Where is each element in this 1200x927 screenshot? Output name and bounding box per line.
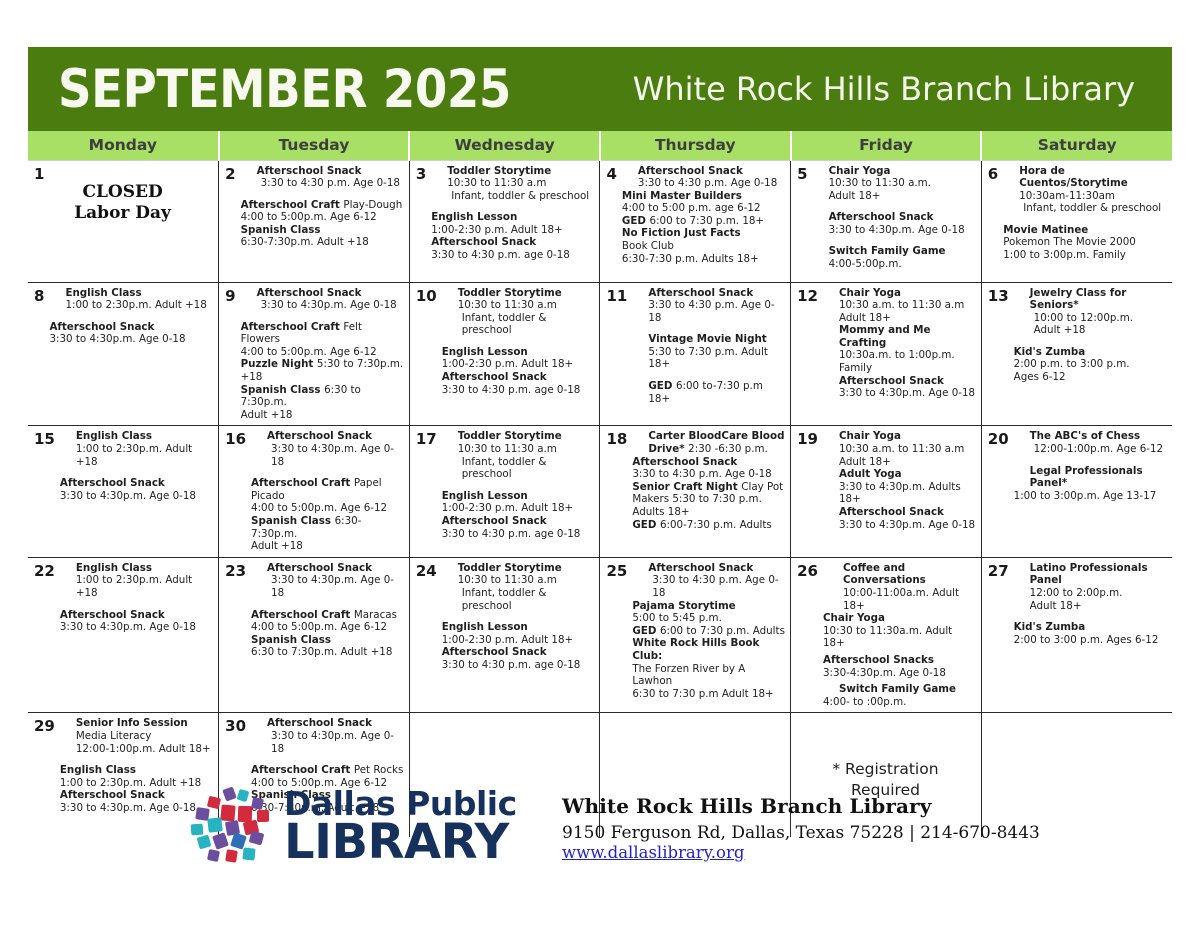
event-title: Coffee and Conversations (843, 562, 926, 587)
event-title: Jewelry Class for Seniors* (1030, 287, 1127, 312)
event-line: 10:30 to 11:30 a.m (442, 299, 595, 312)
event-line: 2:00 p.m. to 3:00 p.m. (1014, 358, 1167, 371)
day-cell-content: 10Toddler Storytime10:30 to 11:30 a.mInf… (414, 287, 595, 422)
event-title: Afterschool Snack (431, 236, 536, 248)
event-line: Adult 18+ (813, 190, 976, 203)
event-detail: 3:30 to 4:30 p.m. Age 0-18 (632, 468, 771, 480)
event-line: 6:30 to 7:30 p.m Adult 18+ (632, 688, 785, 701)
event-detail: Adult 18+ (839, 456, 891, 468)
event-line: 3:30 to 4:30p.m. Age 0-18 (823, 387, 976, 400)
day-number: 19 (797, 432, 818, 447)
event-title: Afterschool Snack (829, 211, 934, 223)
event-detail: 6:30 to 7:30p.m. Adult +18 (251, 646, 392, 658)
event-title: Afterschool Snack (638, 165, 743, 177)
event-title: Afterschool Snack (648, 562, 753, 574)
event-detail: 3:30 to 4:30p.m. Age 0-18 (60, 490, 196, 502)
event-title: Switch Family Game (829, 245, 946, 257)
calendar-day-cell-6: 6Hora de Cuentos/Storytime10:30am-11:30a… (981, 160, 1172, 282)
event-line: Chair Yoga (813, 165, 976, 178)
event-detail: 10:30 to 11:30a.m. Adult 18+ (823, 625, 952, 650)
event-detail: 3:30 to 4:30p.m. Age 0-18 (49, 333, 185, 345)
event-detail: 10:30a.m. to 1:00p.m. (839, 349, 955, 361)
event-line: Ages 6-12 (1014, 371, 1167, 384)
event-detail: Play-Dough (343, 199, 402, 211)
day-number: 5 (797, 167, 807, 182)
event-title: Afterschool Snack (442, 646, 547, 658)
day-cell-content: 1CLOSEDLabor Day (32, 165, 213, 278)
event-line: 10:30 to 11:30a.m. Adult 18+ (823, 625, 976, 650)
event-line: 4:00 to 5:00 p.m. age 6-12 (622, 202, 785, 215)
calendar-week-row: 1CLOSEDLabor Day2Afterschool Snack3:30 t… (28, 160, 1172, 282)
event-line: 10:30 a.m. to 11:30 a.m (823, 443, 976, 456)
event-title: Kid's Zumba (1014, 621, 1086, 633)
event-line: Hora de Cuentos/Storytime (1003, 165, 1167, 190)
event-title: English Class (76, 430, 152, 442)
event-detail: 1:00-2:30 p.m. Adult 18+ (442, 502, 573, 514)
day-cell-content: 26Coffee and Conversations10:00-11:00a.m… (795, 562, 976, 709)
event-line: Afterschool Snack (813, 211, 976, 224)
event-title: No Fiction Just Facts (622, 227, 741, 239)
event-detail: Infant, toddler & preschool (462, 587, 547, 612)
event-detail: Makers 5:30 to 7:30 p.m. (632, 493, 762, 505)
event-detail: 3:30 to 4:30p.m. Age 0-18 (271, 730, 394, 755)
event-line: Afterschool Snack (60, 609, 213, 622)
event-line: Adult +18 (241, 409, 404, 422)
event-detail: 4:00 to 5:00 p.m. age 6-12 (622, 202, 761, 214)
event-line: 4:00 to 5:00p.m. Age 6-12 (241, 211, 404, 224)
event-detail: 5:00 to 5:45 p.m. (632, 612, 722, 624)
logo-shape (207, 849, 220, 862)
calendar-day-cell-24: 24Toddler Storytime10:30 to 11:30 a.mInf… (409, 557, 600, 713)
event-detail: Adult +18 (1034, 324, 1086, 336)
event-detail: 2:00 to 3:00 p.m. Ages 6-12 (1014, 634, 1159, 646)
calendar-day-cell-23: 23Afterschool Snack3:30 to 4:30p.m. Age … (219, 557, 410, 713)
day-number: 17 (416, 432, 437, 447)
event-line: Family (823, 362, 976, 375)
day-number: 15 (34, 432, 55, 447)
event-line: Chair Yoga (823, 287, 976, 300)
event-detail: 4:00 to 5:00p.m. Age 6-12 (241, 346, 377, 358)
event-list: English Class1:00 to 2:30p.m. Adult +18A… (60, 430, 213, 502)
event-detail: 6:00 to 7:30 p.m. Adults (660, 625, 785, 637)
calendar-day-cell-17: 17Toddler Storytime10:30 to 11:30 a.mInf… (409, 426, 600, 557)
event-detail: 12:00 to 2:00p.m. (1030, 587, 1123, 599)
event-line: Spanish Class (251, 634, 404, 647)
day-number: 2 (225, 167, 235, 182)
event-title: Afterschool Snack (839, 375, 944, 387)
event-line: Afterschool Craft Maracas (251, 609, 404, 622)
event-line: Afterschool Snack (60, 477, 213, 490)
event-line: 6:30 to 7:30p.m. Adult +18 (251, 646, 404, 659)
event-line: 5:00 to 5:45 p.m. (632, 612, 785, 625)
event-list: Afterschool Snack3:30 to 4:30p.m. Age 0-… (251, 562, 404, 659)
event-title: The ABC's of Chess (1030, 430, 1140, 442)
event-title: English Class (65, 287, 141, 299)
event-line: 3:30 to 4:30p.m. Age 0-18 (251, 443, 404, 468)
calendar-day-cell-19: 19Chair Yoga10:30 a.m. to 11:30 a.mAdult… (791, 426, 982, 557)
event-line: Adult 18+ (823, 456, 976, 469)
event-title: Afterschool Snack (267, 430, 372, 442)
calendar-day-cell-4: 4Afterschool Snack3:30 to 4:30 p.m. Age … (600, 160, 791, 282)
event-line: Infant, toddler & preschool (442, 587, 595, 612)
event-list: Carter BloodCare BloodDrive* 2:30 -6:30 … (632, 430, 785, 531)
event-detail: 6:30-7:30 p.m. Adults 18+ (622, 253, 759, 265)
event-title: Switch Family Game (839, 683, 956, 695)
event-line: 5:30 to 7:30 p.m. Adult 18+ (632, 346, 785, 371)
day-cell-content: 22English Class1:00 to 2:30p.m. Adult +1… (32, 562, 213, 709)
event-detail: 1:00 to 2:30p.m. Adult +18 (65, 299, 206, 311)
event-title: Afterschool Snack (442, 515, 547, 527)
event-title: Chair Yoga (823, 612, 885, 624)
event-title: Chair Yoga (839, 430, 901, 442)
event-detail: Adults 18+ (632, 506, 689, 518)
event-detail: 3:30 to 4:30 p.m. age 0-18 (431, 249, 570, 261)
day-number: 22 (34, 564, 55, 579)
logo-shape (197, 835, 212, 850)
event-detail: 3:30 to 4:30p.m. Age 0-18 (271, 574, 394, 599)
event-line: GED 6:00 to 7:30 p.m. 18+ (622, 215, 785, 228)
event-title: Afterschool Craft (251, 609, 354, 621)
event-detail: 3:30 to 4:30p.m. Adults 18+ (839, 481, 961, 506)
day-number: 13 (988, 289, 1009, 304)
event-title: Afterschool Craft (251, 764, 354, 776)
event-title: Carter BloodCare Blood (648, 430, 784, 442)
event-line: Afterschool Snack (823, 375, 976, 388)
event-line: Chair Yoga (823, 430, 976, 443)
event-line: Adult +18 (251, 540, 404, 553)
event-line: Pajama Storytime (632, 600, 785, 613)
event-line: 1:00 to 3:00p.m. Age 13-17 (1014, 490, 1167, 503)
page-title: SEPTEMBER 2025 (58, 59, 511, 120)
event-line: Mini Master Builders (622, 190, 785, 203)
event-line: 3:30 to 4:30 p.m. age 0-18 (431, 249, 594, 262)
event-list: The ABC's of Chess12:00-1:00p.m. Age 6-1… (1014, 430, 1167, 502)
event-detail: Pokemon The Movie 2000 (1003, 236, 1136, 248)
event-detail: Infant, toddler & preschool (462, 456, 547, 481)
event-detail: 3:30 to 4:30p.m. Age 0-18 (839, 387, 975, 399)
logo-shape (220, 804, 235, 821)
logo-shape (191, 824, 204, 836)
calendar-day-cell-25: 25Afterschool Snack3:30 to 4:30 p.m. Age… (600, 557, 791, 713)
event-line: Infant, toddler & preschool (442, 456, 595, 481)
event-detail: Media Literacy (76, 730, 151, 742)
event-line: 3:30 to 4:30 p.m. Age 0-18 (632, 574, 785, 599)
event-title: Spanish Class (251, 515, 335, 527)
day-cell-content: 5Chair Yoga10:30 to 11:30 a.m.Adult 18+A… (795, 165, 976, 278)
calendar-day-cell-18: 18Carter BloodCare BloodDrive* 2:30 -6:3… (600, 426, 791, 557)
event-line: 10:30 to 11:30 a.m (442, 574, 595, 587)
event-line: 3:30 to 4:30p.m. Adults 18+ (823, 481, 976, 506)
day-number: 10 (416, 289, 437, 304)
event-title: GED (622, 215, 650, 227)
day-number: 3 (416, 167, 426, 182)
event-line: White Rock Hills Book Club: (632, 637, 785, 662)
weekday-header-saturday: Saturday (981, 131, 1172, 160)
event-line: 1:00 to 3:00p.m. Family (1003, 249, 1167, 262)
event-line: Adult 18+ (823, 312, 976, 325)
calendar-header-band: SEPTEMBER 2025 White Rock Hills Branch L… (28, 47, 1172, 131)
event-line: Afterschool Snack (251, 562, 404, 575)
event-line: 3:30 to 4:30 p.m. Age 0-18 (622, 177, 785, 190)
event-title: Toddler Storytime (458, 562, 562, 574)
event-line: The ABC's of Chess (1014, 430, 1167, 443)
footer-branch-name: White Rock Hills Branch Library (562, 794, 1040, 818)
event-detail: Adult 18+ (1030, 600, 1082, 612)
event-detail: 3:30 to 4:30 p.m. Age 0-18 (648, 299, 774, 324)
event-title: Pajama Storytime (632, 600, 735, 612)
event-line: 10:00 to 12:00p.m. (1014, 312, 1167, 325)
event-line: Infant, toddler & preschool (431, 190, 594, 203)
event-title: Afterschool Snack (60, 477, 165, 489)
event-line: Afterschool Snack (442, 646, 595, 659)
event-line: Afterschool Snack (241, 165, 404, 178)
event-title: Afterschool Craft (241, 199, 344, 211)
calendar-day-cell-3: 3Toddler Storytime10:30 to 11:30 a.mInfa… (409, 160, 600, 282)
logo-shape (249, 831, 265, 846)
event-detail: 1:00 to 3:00p.m. Age 13-17 (1014, 490, 1157, 502)
event-line: Afterschool Craft Pet Rocks (251, 764, 404, 777)
event-line: 10:30 a.m. to 11:30 a.m (823, 299, 976, 312)
library-logo-wordmark: Dallas Public LIBRARY (284, 788, 517, 865)
event-detail: 10:00 to 12:00p.m. (1034, 312, 1133, 324)
event-detail: 1:00 to 2:30p.m. Adult +18 (76, 443, 192, 468)
day-number: 20 (988, 432, 1009, 447)
event-detail: 3:30-4:30p.m. Age 0-18 (823, 667, 946, 679)
event-list: Toddler Storytime10:30 to 11:30 a.mInfan… (431, 165, 594, 262)
event-line: Toddler Storytime (431, 165, 594, 178)
event-line: Switch Family Game (813, 245, 976, 258)
event-line: 3:30 to 4:30p.m. Age 0-18 (823, 519, 976, 532)
event-line: Spanish Class 6:30-7:30p.m. (251, 515, 404, 540)
event-detail: Adult +18 (241, 409, 293, 421)
library-website-link[interactable]: www.dallaslibrary.org (562, 843, 744, 862)
closed-label: CLOSED (32, 182, 213, 203)
event-line: Afterschool Snack (622, 165, 785, 178)
event-title: English Lesson (431, 211, 517, 223)
day-number: 6 (988, 167, 998, 182)
day-cell-content: 4Afterschool Snack3:30 to 4:30 p.m. Age … (604, 165, 785, 278)
event-detail: 10:30 a.m. to 11:30 a.m (839, 299, 964, 311)
event-line: 12:00-1:00p.m. Age 6-12 (1014, 443, 1167, 456)
event-title: English Lesson (442, 346, 528, 358)
logo-shape (207, 817, 223, 833)
event-title: Senior Info Session (76, 717, 188, 729)
event-detail: Pet Rocks (354, 764, 403, 776)
event-line: 10:30 to 11:30 a.m (431, 177, 594, 190)
event-line: 3:30 to 4:30p.m. Age 0-18 (49, 333, 213, 346)
event-line: Adult Yoga (823, 468, 976, 481)
event-detail: 10:30 to 11:30 a.m (458, 443, 557, 455)
event-line: 3:30 to 4:30 p.m. age 0-18 (442, 659, 595, 672)
event-detail: 10:30am-11:30am (1019, 190, 1115, 202)
event-line: Spanish Class (241, 224, 404, 237)
event-title: Mini Master Builders (622, 190, 742, 202)
event-line: Chair Yoga (823, 612, 976, 625)
event-list: Jewelry Class for Seniors*10:00 to 12:00… (1014, 287, 1167, 384)
event-line: English Lesson (431, 211, 594, 224)
event-title: Afterschool Snack (632, 456, 737, 468)
calendar-week-row: 8English Class1:00 to 2:30p.m. Adult +18… (28, 282, 1172, 426)
event-line: Toddler Storytime (442, 287, 595, 300)
event-line: English Class (60, 764, 213, 777)
event-line: Book Club (622, 240, 785, 253)
event-title: Toddler Storytime (458, 430, 562, 442)
event-line: 10:30am-11:30am (1003, 190, 1167, 203)
event-line: Adult 18+ (1014, 600, 1167, 613)
event-detail: 4:00 to 5:00p.m. Age 6-12 (251, 621, 387, 633)
event-line: Afterschool Snack (251, 430, 404, 443)
event-detail: 6:30 to 7:30 p.m Adult 18+ (632, 688, 773, 700)
calendar-day-cell-10: 10Toddler Storytime10:30 to 11:30 a.mInf… (409, 282, 600, 426)
event-line: 4:00 to 5:00p.m. Age 6-12 (241, 346, 404, 359)
event-title: Afterschool Snack (60, 609, 165, 621)
day-cell-content: 8English Class1:00 to 2:30p.m. Adult +18… (32, 287, 213, 422)
logo-shape (225, 849, 238, 863)
event-line: English Lesson (442, 621, 595, 634)
event-list: Chair Yoga10:30 a.m. to 11:30 a.mAdult 1… (823, 287, 976, 400)
calendar-day-cell-11: 11Afterschool Snack3:30 to 4:30 p.m. Age… (600, 282, 791, 426)
event-title: Spanish Class (241, 224, 321, 236)
event-detail: 10:30 to 11:30 a.m (458, 574, 557, 586)
event-detail: 3:30 to 4:30p.m. Age 0-18 (839, 519, 975, 531)
day-cell-content: 27Latino Professionals Panel12:00 to 2:0… (986, 562, 1167, 709)
event-line: English Class (60, 562, 213, 575)
event-detail: 3:30 to 4:30 p.m. age 0-18 (442, 528, 581, 540)
day-number: 26 (797, 564, 818, 579)
event-detail: 10:30 a.m. to 11:30 a.m (839, 443, 964, 455)
event-detail: 3:30 to 4:30p.m. Age 0-18 (829, 224, 965, 236)
event-line: 3:30 to 4:30 p.m. Age 0-18 (632, 299, 785, 324)
event-line: Senior Info Session (60, 717, 213, 730)
event-title: Mommy and Me Crafting (839, 324, 931, 349)
day-number: 23 (225, 564, 246, 579)
weekday-header-friday: Friday (791, 131, 982, 160)
event-line: 3:30-4:30p.m. Age 0-18 (823, 667, 976, 680)
event-line: Adult +18 (1014, 324, 1167, 337)
event-line: 1:00 to 2:30p.m. Adult +18 (49, 299, 213, 312)
event-detail: 3:30 to 4:30 p.m. age 0-18 (442, 659, 581, 671)
event-list: Chair Yoga10:30 to 11:30 a.m.Adult 18+Af… (813, 165, 976, 271)
event-title: Drive* (648, 443, 688, 455)
logo-line-2: LIBRARY (284, 820, 517, 865)
event-line: 3:30 to 4:30p.m. Age 0-18 (60, 621, 213, 634)
event-title: Vintage Movie Night (648, 333, 766, 345)
event-line: English Class (60, 430, 213, 443)
event-line: 1:00-2:30 p.m. Adult 18+ (442, 358, 595, 371)
event-title: Senior Craft Night (632, 481, 741, 493)
day-number: 12 (797, 289, 818, 304)
event-line: English Lesson (442, 346, 595, 359)
event-title: English Lesson (442, 490, 528, 502)
event-detail: 2:00 p.m. to 3:00 p.m. (1014, 358, 1130, 370)
event-detail: 3:30 to 4:30 p.m. Age 0-18 (638, 177, 777, 189)
logo-shape (222, 786, 236, 801)
calendar-grid: Monday Tuesday Wednesday Thursday Friday… (28, 131, 1172, 837)
day-cell-content: 25Afterschool Snack3:30 to 4:30 p.m. Age… (604, 562, 785, 709)
day-number: 9 (225, 289, 235, 304)
event-detail: 3:30 to 4:30p.m. Age 0-18 (261, 299, 397, 311)
footer-address: 9150 Ferguson Rd, Dallas, Texas 75228 | … (562, 823, 1040, 843)
event-line: 1:00-2:30 p.m. Adult 18+ (442, 634, 595, 647)
event-line: 6:30-7:30p.m. Adult +18 (241, 236, 404, 249)
event-detail: Maracas (354, 609, 397, 621)
event-line: Afterschool Snack (632, 456, 785, 469)
event-line: 10:00-11:00a.m. Adult 18+ (823, 587, 976, 612)
event-detail: Adult 18+ (839, 312, 891, 324)
event-title: Puzzle Night (241, 358, 317, 370)
event-title: White Rock Hills Book Club: (632, 637, 759, 662)
dallas-public-library-logo: Dallas Public LIBRARY (188, 788, 517, 866)
event-title: Toddler Storytime (458, 287, 562, 299)
calendar-day-cell-15: 15English Class1:00 to 2:30p.m. Adult +1… (28, 426, 219, 557)
event-detail: 4:00-5:00p.m. (829, 258, 902, 270)
calendar-day-cell-2: 2Afterschool Snack3:30 to 4:30 p.m. Age … (219, 160, 410, 282)
event-detail: 6:00 to 7:30 p.m. 18+ (650, 215, 765, 227)
event-title: Afterschool Snack (49, 321, 154, 333)
event-title: GED (632, 519, 660, 531)
event-detail: 10:30 to 11:30 a.m (447, 177, 546, 189)
calendar-day-cell-8: 8English Class1:00 to 2:30p.m. Adult +18… (28, 282, 219, 426)
event-detail: Adult +18 (251, 540, 303, 552)
event-line: GED 6:00 to-7:30 p.m 18+ (632, 380, 785, 405)
calendar-day-cell-5: 5Chair Yoga10:30 to 11:30 a.m.Adult 18+A… (791, 160, 982, 282)
branch-name-header: White Rock Hills Branch Library (633, 70, 1135, 108)
event-detail: Book Club (622, 240, 674, 252)
day-number: 27 (988, 564, 1009, 579)
day-cell-content: 23Afterschool Snack3:30 to 4:30p.m. Age … (223, 562, 404, 709)
event-line: 1:00-2:30 p.m. Adult 18+ (431, 224, 594, 237)
day-cell-content: 24Toddler Storytime10:30 to 11:30 a.mInf… (414, 562, 595, 709)
event-line: Afterschool Craft Play-Dough (241, 199, 404, 212)
day-cell-content: 18Carter BloodCare BloodDrive* 2:30 -6:3… (604, 430, 785, 552)
event-detail: Family (839, 362, 872, 374)
event-title: Kid's Zumba (1014, 346, 1086, 358)
event-title: English Class (60, 764, 136, 776)
branch-contact-block: White Rock Hills Branch Library 9150 Fer… (562, 794, 1040, 862)
day-cell-content: 9Afterschool Snack3:30 to 4:30p.m. Age 0… (223, 287, 404, 422)
event-line: 2:00 to 3:00 p.m. Ages 6-12 (1014, 634, 1167, 647)
event-detail: 3:30 to 4:30 p.m. Age 0-18 (652, 574, 778, 599)
event-line: Movie Matinee (1003, 224, 1167, 237)
event-title: Afterschool Snacks (823, 654, 934, 666)
event-detail: Infant, toddler & preschool (1023, 202, 1161, 214)
event-detail: 4:00- to :00p.m. (823, 696, 906, 708)
event-line: 1:00 to 2:30p.m. Adult +18 (60, 574, 213, 599)
event-line: 3:30 to 4:30 p.m. Age 0-18 (241, 177, 404, 190)
event-list: Toddler Storytime10:30 to 11:30 a.mInfan… (442, 287, 595, 397)
calendar-page: SEPTEMBER 2025 White Rock Hills Branch L… (0, 0, 1200, 927)
calendar-day-cell-1: 1CLOSEDLabor Day (28, 160, 219, 282)
event-detail: 10:00-11:00a.m. Adult 18+ (843, 587, 959, 612)
event-line: English Class (49, 287, 213, 300)
day-number: 25 (606, 564, 627, 579)
event-line: 1:00-2:30 p.m. Adult 18+ (442, 502, 595, 515)
event-line: Drive* 2:30 -6:30 p.m. (632, 443, 785, 456)
event-line: 3:30 to 4:30p.m. Age 0-18 (251, 574, 404, 599)
event-detail: 6:00-7:30 p.m. Adults (660, 519, 772, 531)
day-cell-content: 15English Class1:00 to 2:30p.m. Adult +1… (32, 430, 213, 552)
event-detail: The Forzen River by A Lawhon (632, 663, 745, 688)
calendar-day-cell-12: 12Chair Yoga10:30 a.m. to 11:30 a.mAdult… (791, 282, 982, 426)
event-line: Pokemon The Movie 2000 (1003, 236, 1167, 249)
event-line: Media Literacy (60, 730, 213, 743)
event-list: Afterschool Snack3:30 to 4:30 p.m. Age 0… (632, 562, 785, 701)
event-line: Vintage Movie Night (632, 333, 785, 346)
calendar-week-row: 15English Class1:00 to 2:30p.m. Adult +1… (28, 426, 1172, 557)
event-list: English Class1:00 to 2:30p.m. Adult +18A… (60, 562, 213, 634)
event-detail: Infant, toddler & preschool (451, 190, 589, 202)
event-detail: Ages 6-12 (1014, 371, 1066, 383)
